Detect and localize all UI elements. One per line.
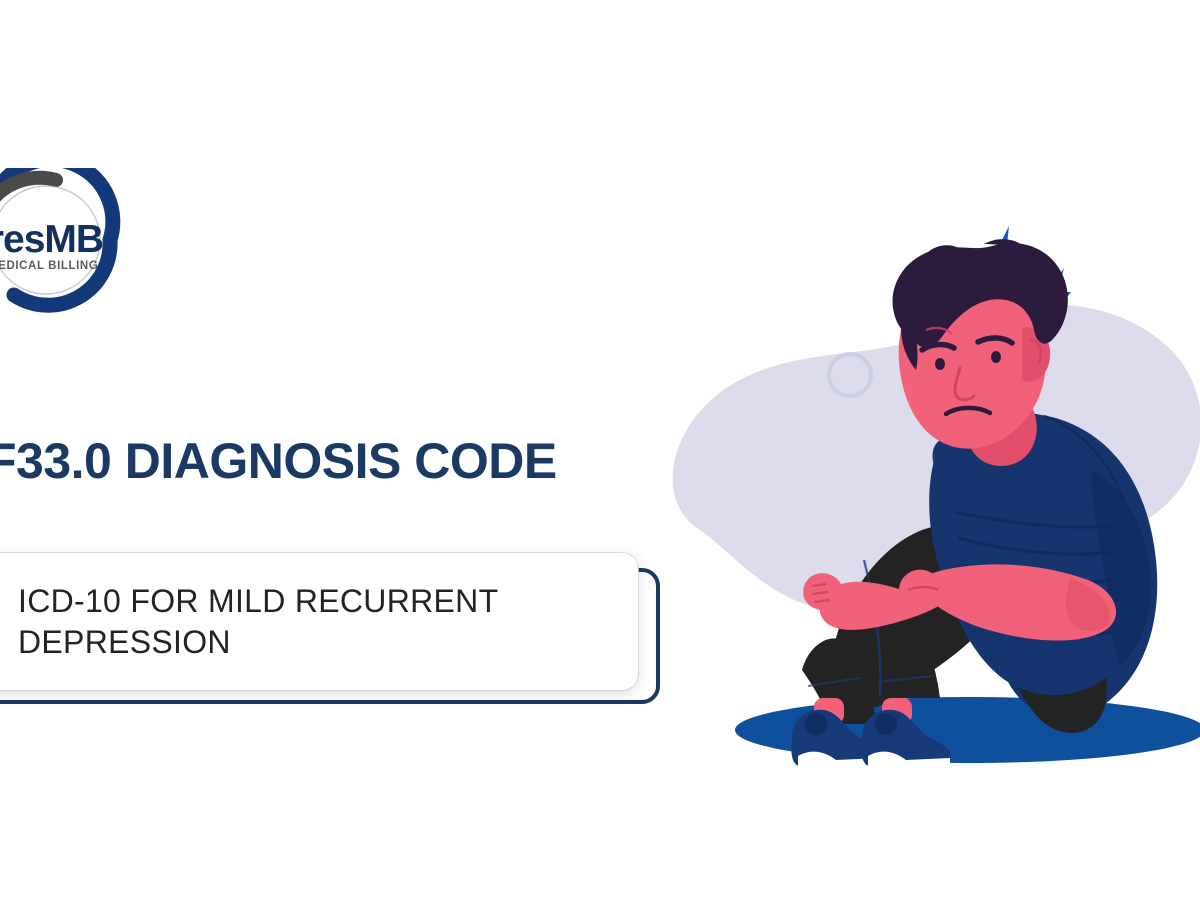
- logo-tagline: MEDICAL BILLING: [0, 260, 98, 272]
- page-title: F33.0 DIAGNOSIS CODE: [0, 432, 557, 490]
- eye-left: [935, 358, 945, 370]
- poster-canvas: uresMB MEDICAL BILLING F33.0 DIAGNOSIS C…: [0, 0, 1200, 900]
- brand-logo[interactable]: uresMB MEDICAL BILLING: [0, 168, 138, 313]
- eye-right: [991, 351, 1001, 363]
- depressed-man-illustration: [640, 200, 1200, 800]
- subtitle-text: ICD-10 FOR MILD RECURRENT DEPRESSION: [18, 581, 608, 663]
- logo-wordmark: uresMB: [0, 220, 136, 259]
- subtitle-card: ICD-10 FOR MILD RECURRENT DEPRESSION: [0, 553, 638, 690]
